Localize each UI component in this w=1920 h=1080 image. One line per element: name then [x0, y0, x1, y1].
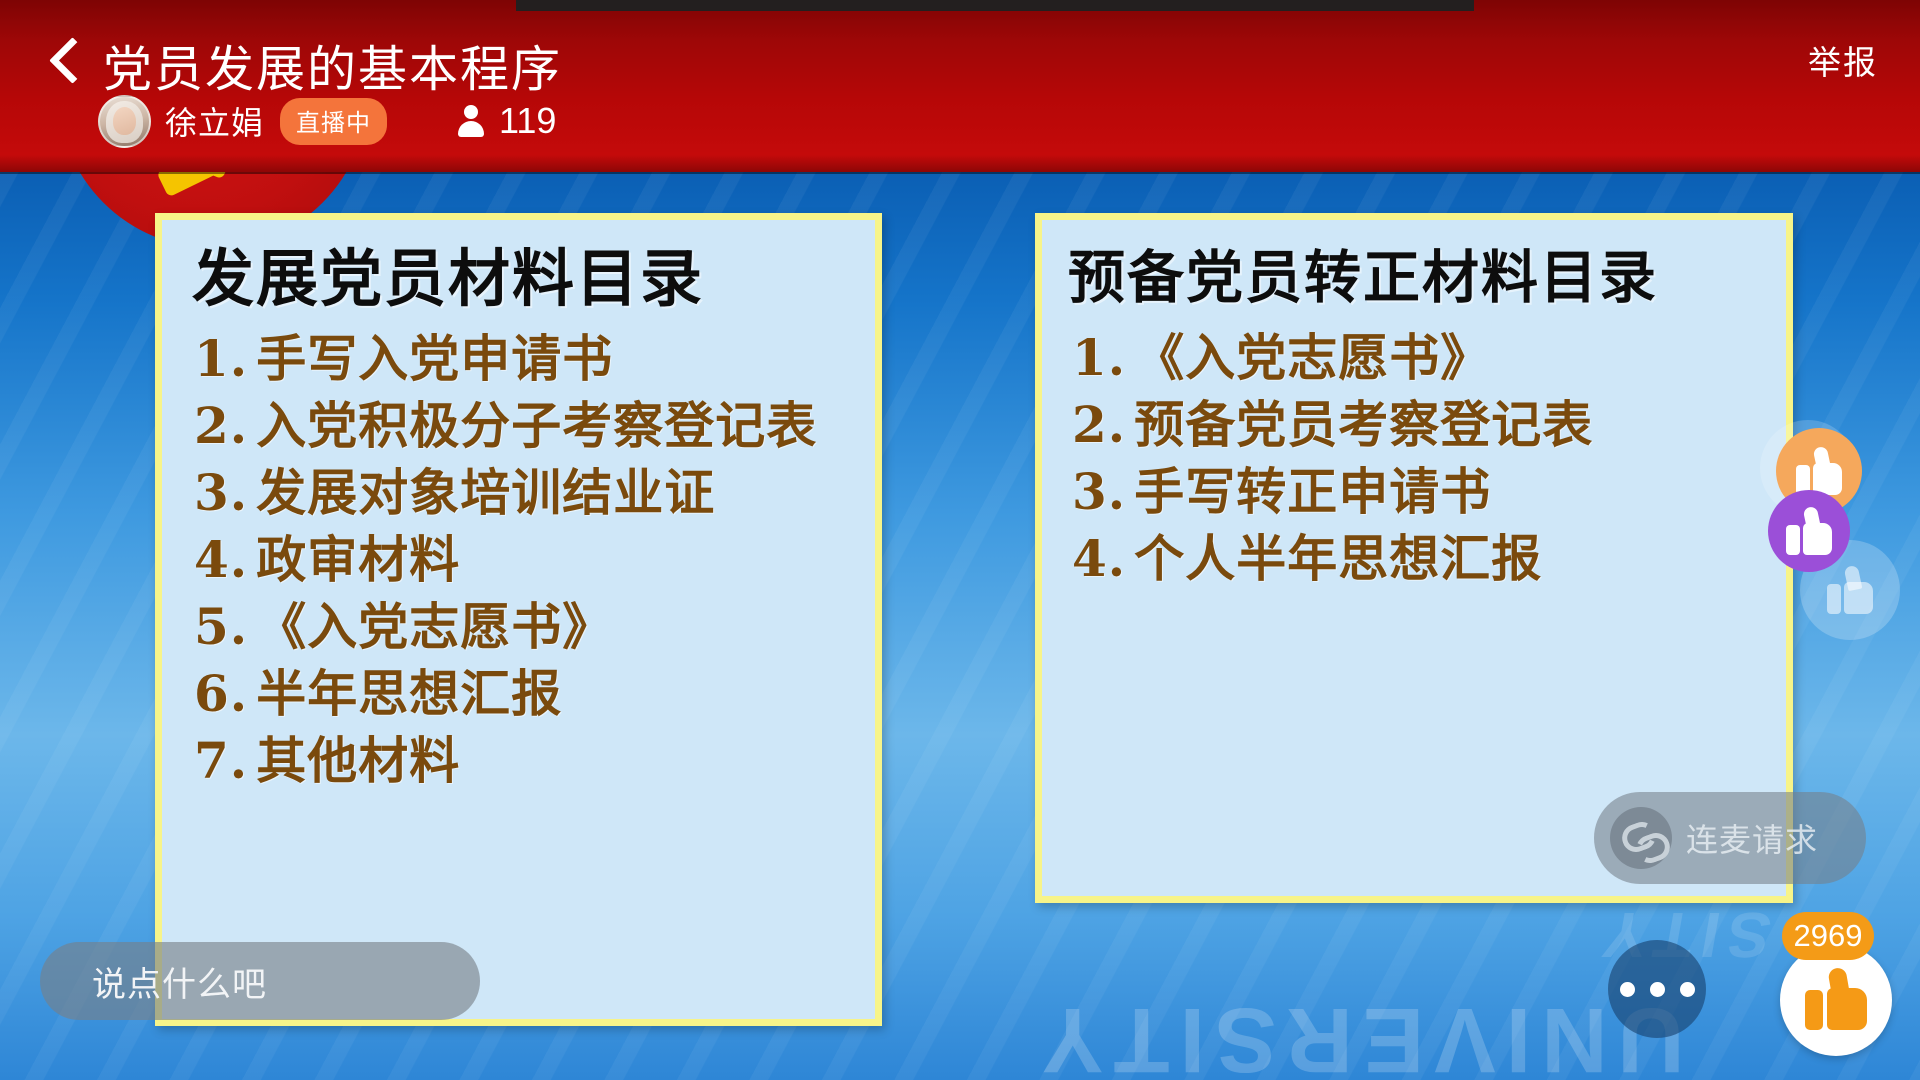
comment-input-placeholder: 说点什么吧: [92, 957, 267, 1006]
list-item: 3.手写转正申请书: [1072, 458, 1786, 525]
list-item-label: 政审材料: [256, 526, 460, 593]
list-item-number: 2.: [1072, 391, 1126, 458]
back-icon[interactable]: [44, 36, 90, 90]
list-item-number: 6.: [194, 660, 248, 727]
link-chain-icon: [1610, 807, 1672, 869]
page-title: 党员发展的基本程序: [103, 30, 562, 101]
top-header-bar: 党员发展的基本程序 举报 徐立娟 直播中 119: [0, 0, 1920, 172]
host-name: 徐立娟: [165, 98, 264, 144]
thumbs-up-icon: [1805, 968, 1867, 1032]
status-badge-live: 直播中: [280, 98, 387, 145]
thumbs-up-icon: [1827, 566, 1873, 614]
list-item-label: 手写转正申请书: [1134, 458, 1491, 525]
like-count-badge[interactable]: 2969: [1782, 912, 1874, 960]
list-item: 2.预备党员考察登记表: [1072, 391, 1786, 458]
host-info-row: 徐立娟 直播中 119: [98, 96, 556, 146]
list-item-number: 1.: [194, 325, 248, 392]
list-item: 4.政审材料: [194, 526, 875, 593]
list-item-label: 发展对象培训结业证: [256, 459, 715, 526]
more-options-button[interactable]: [1608, 940, 1706, 1038]
list-item-number: 2.: [194, 392, 248, 459]
viewer-count-group: 119: [457, 100, 556, 142]
mic-request-button[interactable]: 连麦请求: [1594, 792, 1866, 884]
avatar[interactable]: [98, 95, 151, 148]
viewer-count: 119: [499, 100, 556, 142]
like-control-group: 2969: [1772, 912, 1902, 1062]
comment-input[interactable]: 说点什么吧: [40, 942, 480, 1020]
dot-icon: [1680, 982, 1695, 997]
mic-request-label: 连麦请求: [1686, 815, 1818, 861]
list-item: 6.半年思想汇报: [194, 660, 875, 727]
left-card-title: 发展党员材料目录: [192, 246, 875, 311]
left-material-card: 发展党员材料目录 1.手写入党申请书 2.入党积极分子考察登记表 3.发展对象培…: [155, 213, 882, 1026]
list-item-label: 预备党员考察登记表: [1134, 391, 1593, 458]
list-item-number: 5.: [194, 593, 248, 660]
person-icon: [457, 105, 485, 137]
list-item-number: 4.: [1072, 525, 1126, 592]
list-item-number: 4.: [194, 526, 248, 593]
list-item-number: 3.: [194, 459, 248, 526]
list-item-label: 手写入党申请书: [256, 325, 613, 392]
list-item-label: 入党积极分子考察登记表: [256, 392, 817, 459]
list-item: 2.入党积极分子考察登记表: [194, 392, 875, 459]
floating-like-bubble-purple: [1768, 490, 1850, 572]
list-item: 7.其他材料: [194, 727, 875, 794]
report-button[interactable]: 举报: [1808, 36, 1878, 84]
live-stream-screen: UNIVERSITY SITY 发展党员材料目录 1.手写入党申请书 2.入党积…: [0, 0, 1920, 1080]
thumbs-up-icon: [1786, 507, 1832, 555]
left-card-list: 1.手写入党申请书 2.入党积极分子考察登记表 3.发展对象培训结业证 4.政审…: [180, 325, 875, 794]
background-watermark: UNIVERSITY: [1032, 987, 1684, 1080]
list-item: 1.《入党志愿书》: [1072, 324, 1786, 391]
list-item-label: 《入党志愿书》: [1134, 324, 1491, 391]
list-item-number: 7.: [194, 727, 248, 794]
list-item-number: 1.: [1072, 324, 1126, 391]
dot-icon: [1650, 982, 1665, 997]
right-card-title: 预备党员转正材料目录: [1068, 248, 1786, 308]
list-item-label: 半年思想汇报: [256, 660, 562, 727]
thumbs-up-icon: [1796, 447, 1842, 495]
dot-icon: [1620, 982, 1635, 997]
list-item: 5.《入党志愿书》: [194, 593, 875, 660]
list-item-label: 个人半年思想汇报: [1134, 525, 1542, 592]
right-card-list: 1.《入党志愿书》 2.预备党员考察登记表 3.手写转正申请书 4.个人半年思想…: [1060, 324, 1786, 592]
list-item-number: 3.: [1072, 458, 1126, 525]
list-item-label: 《入党志愿书》: [256, 593, 613, 660]
list-item: 1.手写入党申请书: [194, 325, 875, 392]
list-item: 4.个人半年思想汇报: [1072, 525, 1786, 592]
list-item: 3.发展对象培训结业证: [194, 459, 875, 526]
like-button[interactable]: [1780, 944, 1892, 1056]
list-item-label: 其他材料: [256, 727, 460, 794]
status-bar-strip: [516, 0, 1474, 11]
